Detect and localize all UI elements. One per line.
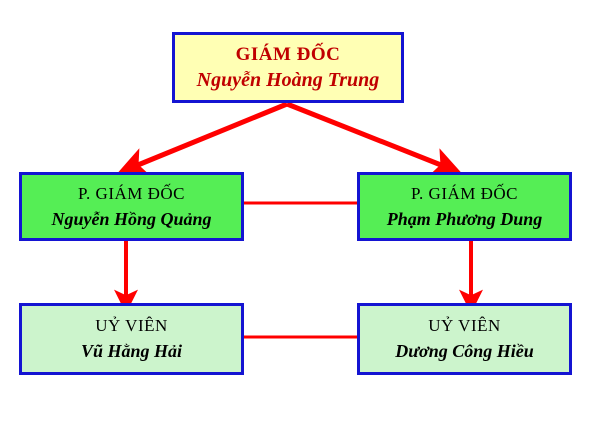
node-deputy-right[interactable]: P. GIÁM ĐỐC Phạm Phương Dung bbox=[357, 172, 572, 241]
org-chart: GIÁM ĐỐC Nguyễn Hoàng Trung P. GIÁM ĐỐC … bbox=[0, 0, 613, 444]
node-director[interactable]: GIÁM ĐỐC Nguyễn Hoàng Trung bbox=[172, 32, 404, 103]
node-member-right-title: UỶ VIÊN bbox=[428, 313, 501, 338]
connector-director-to-deputy-left bbox=[133, 104, 287, 167]
node-member-right-person: Dương Công Hiều bbox=[395, 338, 533, 365]
node-deputy-left-person: Nguyễn Hồng Quảng bbox=[51, 206, 211, 232]
node-member-left-person: Vũ Hằng Hải bbox=[81, 338, 182, 365]
node-director-title: GIÁM ĐỐC bbox=[236, 42, 341, 67]
node-member-right[interactable]: UỶ VIÊN Dương Công Hiều bbox=[357, 303, 572, 375]
node-deputy-left-title: P. GIÁM ĐỐC bbox=[78, 182, 185, 206]
node-member-left[interactable]: UỶ VIÊN Vũ Hằng Hải bbox=[19, 303, 244, 375]
node-deputy-left[interactable]: P. GIÁM ĐỐC Nguyễn Hồng Quảng bbox=[19, 172, 244, 241]
connector-director-to-deputy-right bbox=[287, 104, 446, 167]
node-deputy-right-title: P. GIÁM ĐỐC bbox=[411, 182, 518, 206]
node-member-left-title: UỶ VIÊN bbox=[95, 313, 168, 338]
node-director-person: Nguyễn Hoàng Trung bbox=[197, 67, 380, 94]
node-deputy-right-person: Phạm Phương Dung bbox=[387, 206, 543, 232]
